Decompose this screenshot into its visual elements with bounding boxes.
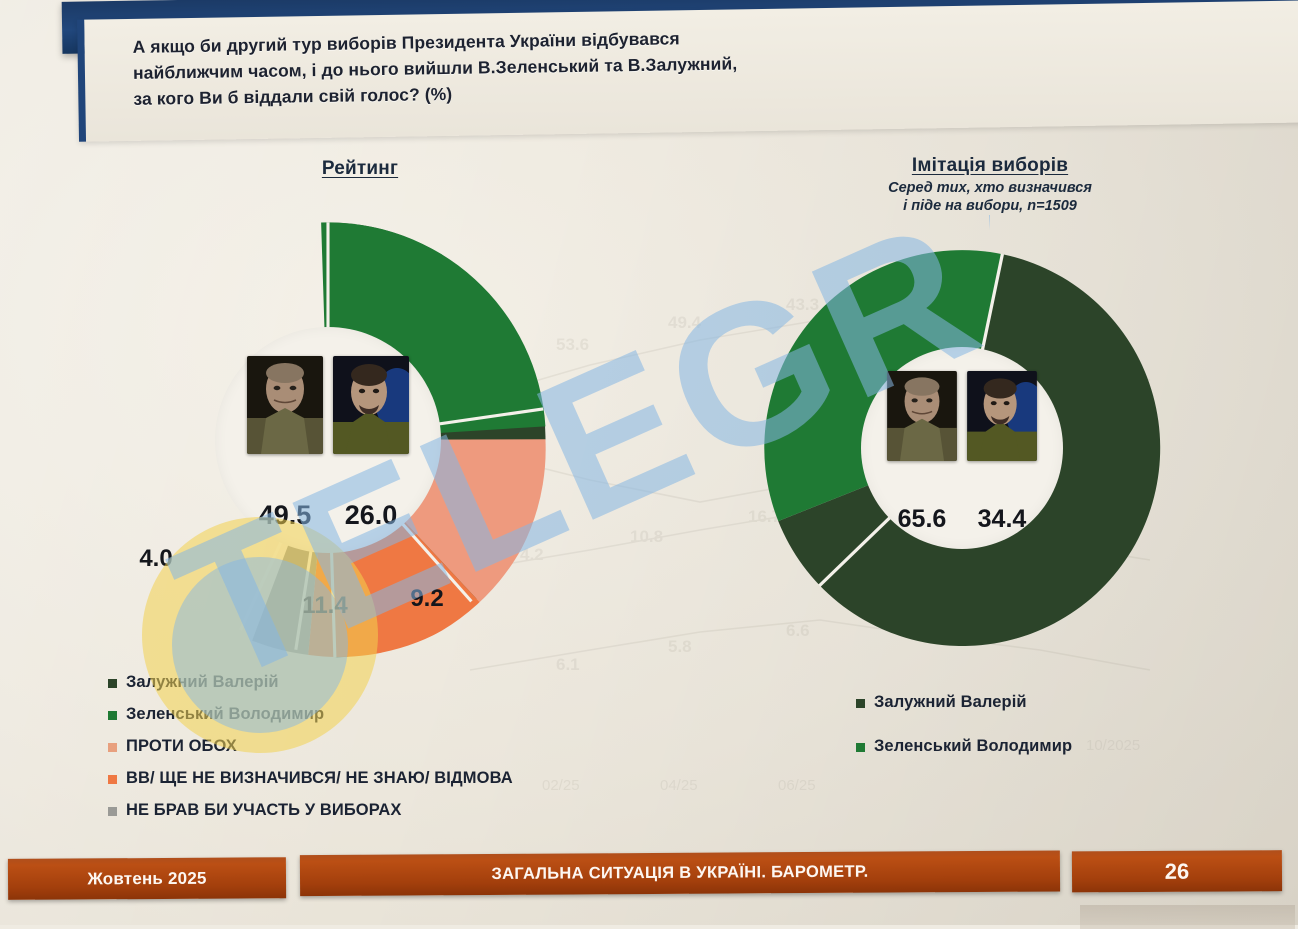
legend-bullet-icon xyxy=(108,807,117,816)
legend-label: НЕ БРАВ БИ УЧАСТЬ У ВИБОРАХ xyxy=(126,800,402,821)
zaluzhny-photo xyxy=(887,371,957,461)
left-chart-title: Рейтинг xyxy=(230,158,490,180)
legend-item: Залужний Валерій xyxy=(856,692,1236,713)
next-page-edge xyxy=(1080,905,1295,929)
legend-bullet-icon xyxy=(856,699,865,708)
simulation-donut-chart: 65.6 34.4 xyxy=(760,246,1164,650)
footer-title: ЗАГАЛЬНА СИТУАЦІЯ В УКРАЇНІ. БАРОМЕТР. xyxy=(300,850,1060,896)
slide-footer: Жовтень 2025 ЗАГАЛЬНА СИТУАЦІЯ В УКРАЇНІ… xyxy=(0,848,1298,902)
zelensky-photo xyxy=(333,356,409,454)
legend-item: ПРОТИ ОБОХ xyxy=(108,736,668,757)
legend-bullet-icon xyxy=(108,679,117,688)
zaluzhny-rating-value: 49.5 xyxy=(247,500,323,531)
legend-item: ВВ/ ЩЕ НЕ ВИЗНАЧИВСЯ/ НЕ ЗНАЮ/ ВІДМОВА xyxy=(108,768,668,789)
slice-label-no-vote: 9.2 xyxy=(396,585,458,613)
simulation-candidate-photos xyxy=(760,371,1164,461)
zaluzhny-photo xyxy=(247,356,323,454)
simulation-center-values: 65.6 34.4 xyxy=(760,505,1164,534)
zelensky-photo xyxy=(967,371,1037,461)
footer-date: Жовтень 2025 xyxy=(8,857,286,900)
legend-bullet-icon xyxy=(108,743,117,752)
legend-label: ВВ/ ЩЕ НЕ ВИЗНАЧИВСЯ/ НЕ ЗНАЮ/ ВІДМОВА xyxy=(126,768,513,789)
legend-label: Зеленський Володимир xyxy=(874,736,1072,757)
right-chart-title: Імітація виборів xyxy=(870,155,1110,177)
legend-label: ПРОТИ ОБОХ xyxy=(126,736,237,757)
legend-item: Зеленський Володимир xyxy=(856,736,1236,757)
legend-label: Залужний Валерій xyxy=(874,692,1027,713)
legend-bullet-icon xyxy=(108,711,117,720)
slice-label-against-both: 4.0 xyxy=(128,545,184,573)
slice-label-undecided: 11.4 xyxy=(290,592,360,620)
rating-legend: Залужний Валерій Зеленський Володимир ПР… xyxy=(108,672,668,833)
left-chart-heading: Рейтинг xyxy=(230,158,490,180)
right-chart-subtitle: Серед тих, хто визначився і піде на вибо… xyxy=(870,180,1110,216)
legend-item: НЕ БРАВ БИ УЧАСТЬ У ВИБОРАХ xyxy=(108,800,668,821)
simulation-legend: Залужний Валерій Зеленський Володимир xyxy=(856,692,1236,780)
question-text: А якщо би другий тур виборів Президента … xyxy=(132,21,1013,112)
legend-bullet-icon xyxy=(856,743,865,752)
right-chart-heading: Імітація виборів Серед тих, хто визначив… xyxy=(870,155,1110,216)
zelensky-rating-value: 26.0 xyxy=(333,500,409,531)
legend-bullet-icon xyxy=(108,775,117,784)
legend-item: Зеленський Володимир xyxy=(108,704,668,725)
right-chart-subtitle-line-1: Серед тих, хто визначився xyxy=(870,180,1110,198)
rating-center-values: 49.5 26.0 xyxy=(106,500,550,531)
zelensky-simulation-value: 34.4 xyxy=(967,505,1037,534)
legend-label: Зеленський Володимир xyxy=(126,704,324,725)
legend-label: Залужний Валерій xyxy=(126,672,279,693)
footer-page-number: 26 xyxy=(1072,850,1282,892)
rating-candidate-photos xyxy=(106,356,550,454)
right-chart-subtitle-line-2: і піде на вибори, n=1509 xyxy=(870,198,1110,216)
zaluzhny-simulation-value: 65.6 xyxy=(887,505,957,534)
legend-item: Залужний Валерій xyxy=(108,672,668,693)
